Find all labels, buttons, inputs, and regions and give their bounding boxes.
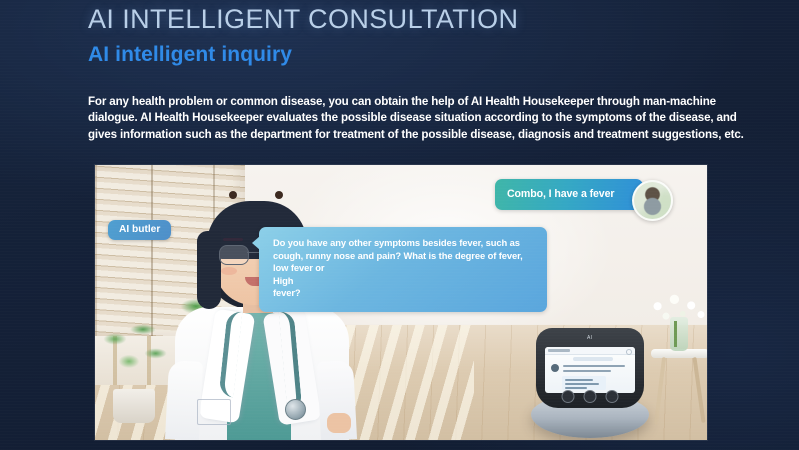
robot-screen-titlebar	[545, 347, 635, 355]
chat-bubble-user-text: Combo, I have a fever	[507, 188, 614, 200]
user-avatar	[632, 180, 673, 221]
plant-left-small	[101, 315, 171, 395]
chat-bubble-assistant-text-line3: fever?	[273, 287, 535, 300]
eye-right	[275, 191, 283, 199]
robot-volume-button[interactable]	[606, 390, 619, 403]
ai-robot-device[interactable]: AI	[529, 326, 651, 438]
description-paragraph: For any health problem or common disease…	[88, 94, 746, 143]
robot-brand-label: AI	[587, 335, 593, 341]
ai-butler-tag: AI butler	[108, 220, 171, 240]
chat-bubble-assistant-text-line2: High	[273, 275, 535, 288]
robot-screen-text-line	[565, 379, 593, 381]
doctor-avatar-figure	[167, 185, 357, 440]
white-flowers	[645, 291, 707, 329]
robot-screen-avatar-icon	[551, 364, 559, 372]
robot-screen-text-line	[565, 383, 599, 385]
robot-screen-text-line	[563, 370, 611, 372]
plant-pot	[113, 389, 155, 423]
robot-power-button[interactable]	[562, 390, 575, 403]
hair-side-left	[197, 231, 221, 309]
coat-pocket	[197, 399, 231, 425]
robot-screen[interactable]	[545, 347, 635, 393]
page-subtitle: AI intelligent inquiry	[88, 43, 292, 67]
eyebrow-left	[223, 238, 243, 241]
page-title: AI INTELLIGENT CONSULTATION	[88, 4, 518, 35]
stethoscope-chestpiece-icon	[285, 399, 306, 420]
robot-screen-text-line	[565, 387, 587, 389]
robot-button-row[interactable]	[562, 390, 619, 403]
robot-body: AI	[536, 328, 644, 408]
robot-menu-button[interactable]	[584, 390, 597, 403]
robot-screen-card	[562, 376, 606, 390]
doctor-hand-right	[327, 413, 351, 433]
robot-screen-pill	[573, 357, 613, 361]
chat-bubble-user: Combo, I have a fever	[495, 179, 643, 210]
chat-bubble-assistant-text: Do you have any other symptoms besides f…	[273, 237, 523, 273]
glasses-lens-left	[219, 245, 249, 265]
blush-left	[221, 267, 237, 275]
robot-screen-text-line	[563, 365, 625, 367]
eye-left	[229, 191, 237, 199]
slide-background: AI INTELLIGENT CONSULTATION AI intellige…	[0, 0, 799, 450]
scene-photo: AI	[95, 165, 707, 440]
chat-bubble-assistant: Do you have any other symptoms besides f…	[259, 227, 547, 312]
